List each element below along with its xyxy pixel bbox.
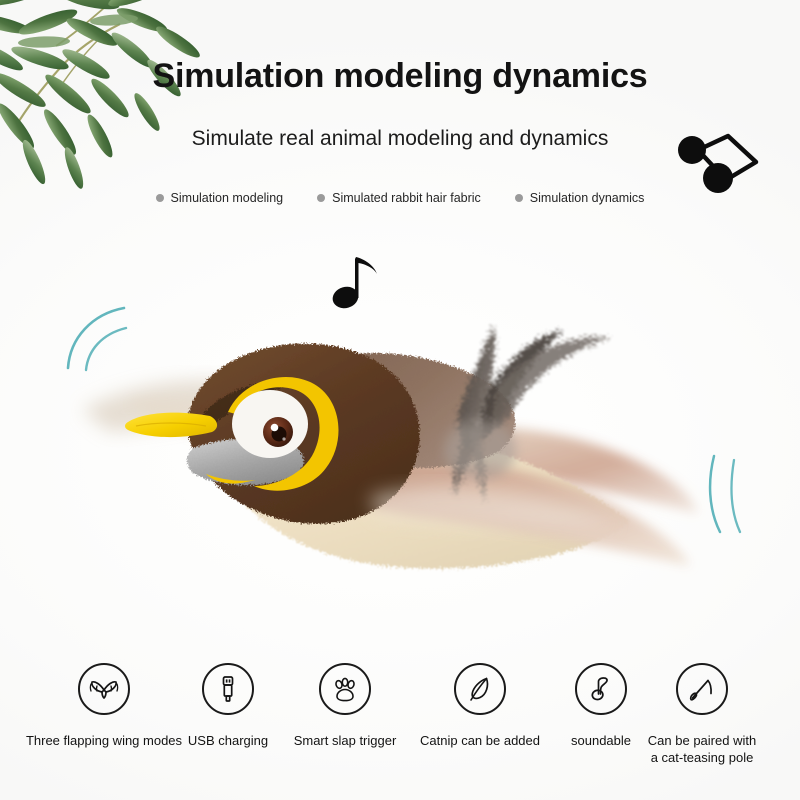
feature-label: USB charging [188, 732, 268, 749]
bullet-item-rabbit-hair-fabric: Simulated rabbit hair fabric [317, 191, 481, 205]
product-promo-image: Simulation modeling dynamics Simulate re… [0, 0, 800, 800]
bullet-label: Simulated rabbit hair fabric [332, 191, 481, 205]
feature-icon-circle [575, 663, 627, 715]
feature-icon-circle [78, 663, 130, 715]
bullet-dot-icon [156, 194, 164, 202]
olive-branch-icon [0, 0, 212, 196]
plush-bird-illustration [70, 300, 750, 630]
feature-cat-teasing-pole[interactable]: Can be paired with a cat-teasing pole [622, 663, 782, 766]
bullet-label: Simulation modeling [171, 191, 284, 205]
flapping-wings-icon [87, 672, 121, 706]
feature-label: Smart slap trigger [294, 732, 397, 749]
feature-icon-row: Three flapping wing modes USB charging [0, 663, 800, 793]
bullet-dot-icon [317, 194, 325, 202]
feature-icon-circle [676, 663, 728, 715]
abstract-node-diamond-icon [668, 128, 764, 196]
feature-icon-circle [202, 663, 254, 715]
bullet-item-simulation-dynamics: Simulation dynamics [515, 191, 645, 205]
feature-icon-circle [319, 663, 371, 715]
plush-bird-toy-photo [70, 300, 750, 630]
bullet-item-simulation-modeling: Simulation modeling [156, 191, 284, 205]
music-note-icon [585, 673, 617, 705]
bullet-label: Simulation dynamics [530, 191, 645, 205]
feature-label: Can be paired with a cat-teasing pole [648, 732, 756, 766]
bullet-dot-icon [515, 194, 523, 202]
paw-print-icon [329, 673, 361, 705]
leaf-icon [464, 673, 496, 705]
usb-plug-icon [212, 673, 244, 705]
feature-icon-circle [454, 663, 506, 715]
page-title: Simulation modeling dynamics [0, 57, 800, 96]
cat-teasing-wand-icon [686, 673, 718, 705]
